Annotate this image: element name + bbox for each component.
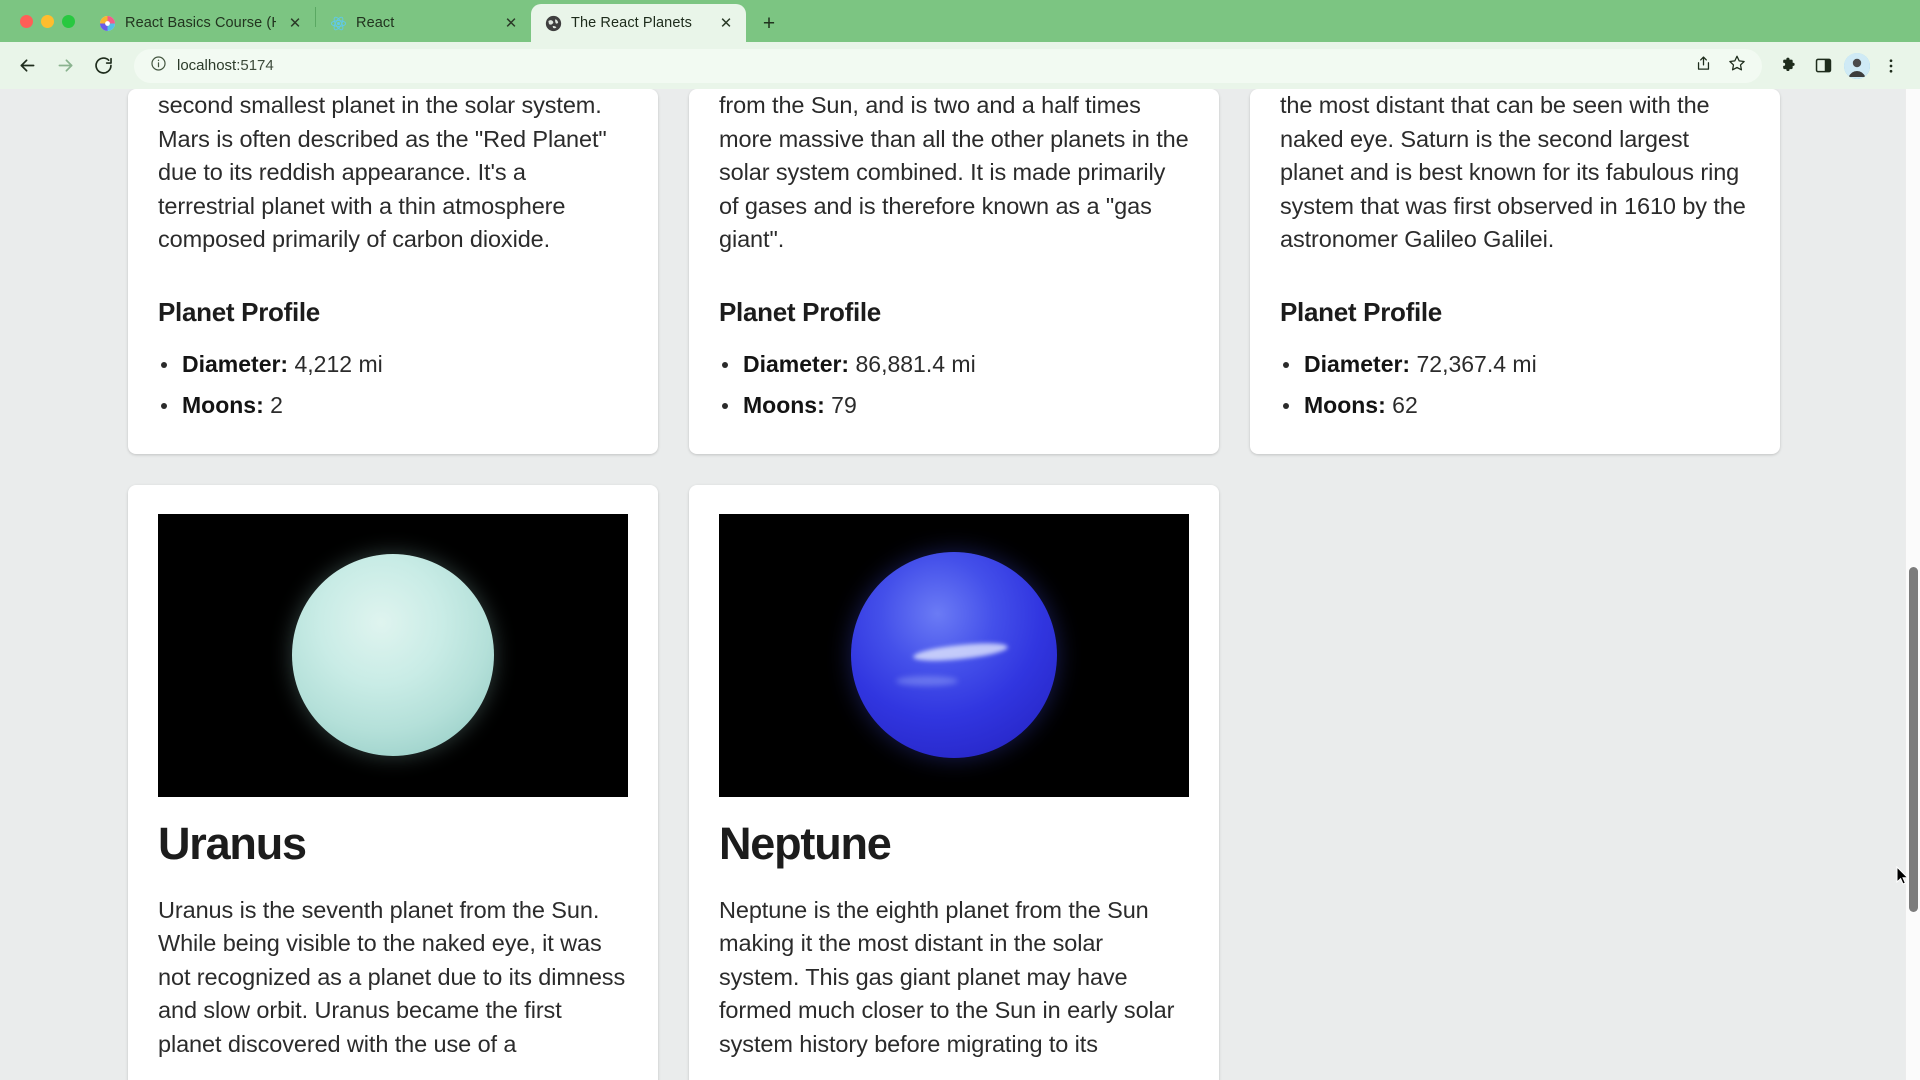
tab-close-button[interactable]: ✕	[285, 13, 305, 33]
profile-diameter: Diameter: 86,881.4 mi	[719, 344, 1189, 385]
bookmark-star-icon[interactable]	[1728, 54, 1746, 77]
url-host: localhost	[177, 57, 236, 74]
close-window-button[interactable]	[20, 15, 33, 28]
planet-description: from the Sun, and is two and a half time…	[719, 89, 1189, 257]
planet-profile-heading: Planet Profile	[719, 297, 1189, 328]
tab-title: The React Planets	[571, 15, 707, 31]
planets-page: second smallest planet in the solar syst…	[0, 89, 1905, 1080]
profile-diameter: Diameter: 72,367.4 mi	[1280, 344, 1750, 385]
tab-close-button[interactable]: ✕	[716, 13, 736, 33]
url-port: :5174	[236, 57, 274, 74]
uranus-sphere	[292, 554, 494, 756]
globe-favicon	[545, 15, 562, 32]
planet-description: second smallest planet in the solar syst…	[158, 89, 628, 257]
planet-card-mars[interactable]: second smallest planet in the solar syst…	[128, 89, 658, 454]
url-text: localhost:5174	[177, 57, 274, 74]
tab-the-react-planets[interactable]: The React Planets ✕	[531, 4, 746, 42]
react-atom-favicon	[330, 15, 347, 32]
back-button[interactable]	[10, 49, 44, 83]
planet-card-neptune[interactable]: Neptune Neptune is the eighth planet fro…	[689, 485, 1219, 1080]
planet-name: Uranus	[158, 818, 628, 870]
maximize-window-button[interactable]	[62, 15, 75, 28]
vertical-scrollbar[interactable]	[1905, 89, 1920, 1080]
planet-profile-heading: Planet Profile	[1280, 297, 1750, 328]
avatar	[1844, 53, 1870, 79]
planet-card-grid: second smallest planet in the solar syst…	[0, 89, 1905, 1080]
extensions-puzzle-icon[interactable]	[1774, 51, 1804, 81]
profile-moons: Moons: 79	[719, 385, 1189, 426]
planet-description: Uranus is the seventh planet from the Su…	[158, 894, 628, 1062]
profile-avatar[interactable]	[1842, 51, 1872, 81]
react-course-favicon	[99, 15, 116, 32]
moons-label: Moons:	[1304, 392, 1386, 418]
side-panel-icon[interactable]	[1808, 51, 1838, 81]
neptune-planet-image	[719, 514, 1189, 797]
tab-title: React Basics Course (How To	[125, 15, 276, 31]
diameter-value: 72,367.4 mi	[1417, 351, 1537, 377]
diameter-value: 4,212 mi	[295, 351, 383, 377]
diameter-label: Diameter:	[1304, 351, 1410, 377]
diameter-label: Diameter:	[743, 351, 849, 377]
new-tab-button[interactable]: +	[754, 8, 784, 38]
forward-button[interactable]	[48, 49, 82, 83]
planet-name: Neptune	[719, 818, 1189, 870]
reload-button[interactable]	[86, 49, 120, 83]
planet-profile-list: Diameter: 72,367.4 mi Moons: 62	[1280, 344, 1750, 426]
planet-profile-list: Diameter: 4,212 mi Moons: 2	[158, 344, 628, 426]
window-traffic-lights	[12, 0, 85, 42]
moons-value: 2	[270, 392, 283, 418]
page-viewport: second smallest planet in the solar syst…	[0, 89, 1920, 1080]
planet-description: the most distant that can be seen with t…	[1280, 89, 1750, 257]
neptune-cloud-band	[896, 676, 958, 686]
moons-value: 62	[1392, 392, 1418, 418]
tab-strip: React Basics Course (How To ✕ React	[0, 0, 1920, 42]
moons-label: Moons:	[743, 392, 825, 418]
uranus-planet-image	[158, 514, 628, 797]
planet-card-saturn[interactable]: the most distant that can be seen with t…	[1250, 89, 1780, 454]
diameter-label: Diameter:	[182, 351, 288, 377]
diameter-value: 86,881.4 mi	[856, 351, 976, 377]
planet-description: Neptune is the eighth planet from the Su…	[719, 894, 1189, 1062]
minimize-window-button[interactable]	[41, 15, 54, 28]
profile-moons: Moons: 2	[158, 385, 628, 426]
tab-list: React Basics Course (How To ✕ React	[85, 0, 784, 42]
tab-react[interactable]: React ✕	[316, 4, 531, 42]
planet-card-uranus[interactable]: Uranus Uranus is the seventh planet from…	[128, 485, 658, 1080]
share-icon[interactable]	[1695, 55, 1712, 77]
moons-label: Moons:	[182, 392, 264, 418]
address-bar[interactable]: localhost:5174	[134, 49, 1762, 83]
tab-react-basics-course[interactable]: React Basics Course (How To ✕	[85, 4, 315, 42]
planet-profile-list: Diameter: 86,881.4 mi Moons: 79	[719, 344, 1189, 426]
profile-diameter: Diameter: 4,212 mi	[158, 344, 628, 385]
moons-value: 79	[831, 392, 857, 418]
planet-card-jupiter[interactable]: from the Sun, and is two and a half time…	[689, 89, 1219, 454]
tab-close-button[interactable]: ✕	[501, 13, 521, 33]
browser-toolbar: localhost:5174	[0, 42, 1920, 89]
neptune-sphere	[851, 552, 1057, 758]
scrollbar-thumb[interactable]	[1909, 567, 1918, 912]
omnibox-end-icons	[1695, 54, 1746, 77]
profile-moons: Moons: 62	[1280, 385, 1750, 426]
browser-window: React Basics Course (How To ✕ React	[0, 0, 1920, 1080]
info-circle-icon[interactable]	[150, 55, 167, 77]
neptune-storm-band	[912, 640, 1008, 664]
three-dot-menu-icon[interactable]	[1876, 51, 1906, 81]
mouse-cursor	[1896, 866, 1910, 886]
tab-title: React	[356, 15, 492, 31]
planet-profile-heading: Planet Profile	[158, 297, 628, 328]
